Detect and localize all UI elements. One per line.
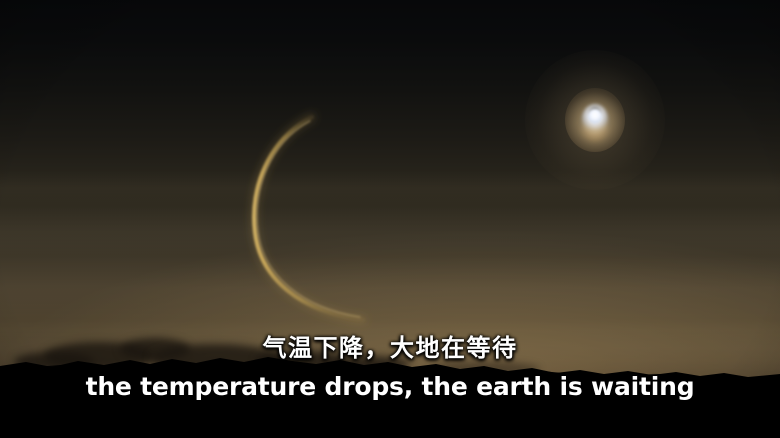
video-frame: 气温下降，大地在等待 the temperature drops, the ea… — [0, 0, 780, 438]
subtitle-chinese: 气温下降，大地在等待 — [0, 336, 780, 360]
eclipse-bright-core — [588, 109, 602, 124]
subtitle-block: 气温下降，大地在等待 the temperature drops, the ea… — [0, 336, 780, 399]
subtitle-english: the temperature drops, the earth is wait… — [0, 374, 780, 399]
